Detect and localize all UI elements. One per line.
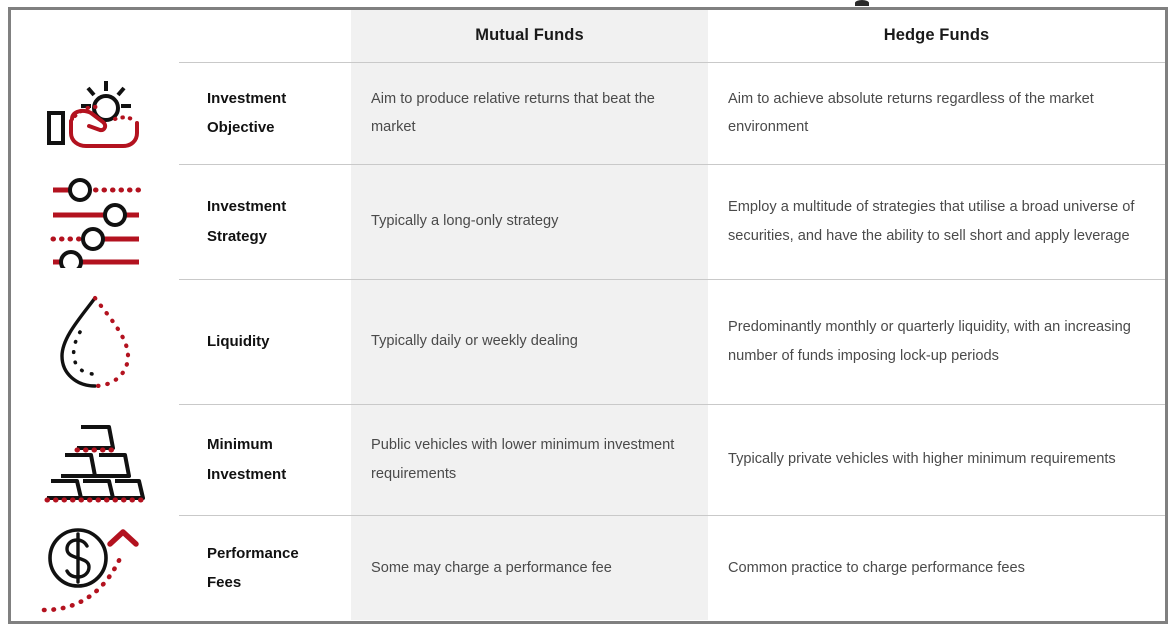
row-label-cell: Performance Fees [179,515,351,620]
row-icon-cell [11,164,179,279]
row-label-cell: Minimum Investment [179,404,351,515]
gold-bars-icon [11,417,179,503]
header-row: Mutual Funds Hedge Funds [11,10,1165,62]
row-icon-cell [11,404,179,515]
clipped-text-artifact [855,0,869,6]
header-hedge-funds: Hedge Funds [708,10,1165,62]
row-label-line2: Objective [207,113,351,142]
table-header: Mutual Funds Hedge Funds [11,10,1165,62]
row-label-line2: Investment [207,460,351,489]
dollar-coin-growth-icon [11,518,179,618]
header-mutual-funds: Mutual Funds [351,10,708,62]
row-icon-cell [11,62,179,164]
cell-mutual-funds: Some may charge a performance fee [351,515,708,620]
row-label-line1: Minimum [207,430,351,459]
row-label-line1: Investment [207,84,351,113]
row-label-line1: Investment [207,192,351,221]
table-row: Minimum Investment Public vehicles with … [11,404,1165,515]
row-icon-cell [11,515,179,620]
comparison-table-page: Mutual Funds Hedge Funds [0,0,1176,628]
hand-holding-sun-icon [11,75,179,151]
mutual-vs-hedge-funds-table: Mutual Funds Hedge Funds [11,10,1165,620]
table-row: Investment Objective Aim to produce rela… [11,62,1165,164]
table-body: Investment Objective Aim to produce rela… [11,62,1165,620]
cell-hedge-funds: Aim to achieve absolute returns regardle… [708,62,1165,164]
table-frame-right [1165,7,1168,624]
row-icon-cell [11,279,179,404]
cell-hedge-funds: Typically private vehicles with higher m… [708,404,1165,515]
cell-hedge-funds: Employ a multitude of strategies that ut… [708,164,1165,279]
row-label-line1: Liquidity [207,327,351,356]
cell-hedge-funds: Common practice to charge performance fe… [708,515,1165,620]
row-label-cell: Liquidity [179,279,351,404]
table-frame-bottom [8,621,1168,624]
row-label-line1: Performance [207,539,351,568]
row-label-cell: Investment Strategy [179,164,351,279]
cell-mutual-funds: Typically daily or weekly dealing [351,279,708,404]
cell-mutual-funds: Aim to produce relative returns that bea… [351,62,708,164]
table-row: Investment Strategy Typically a long-onl… [11,164,1165,279]
table-row: Performance Fees Some may charge a perfo… [11,515,1165,620]
water-droplet-icon [11,290,179,394]
cell-hedge-funds: Predominantly monthly or quarterly liqui… [708,279,1165,404]
header-icon-column [11,10,179,62]
cell-mutual-funds: Public vehicles with lower minimum inves… [351,404,708,515]
row-label-line2: Strategy [207,222,351,251]
row-label-line2: Fees [207,568,351,597]
table-row: Liquidity Typically daily or weekly deal… [11,279,1165,404]
header-label-column [179,10,351,62]
sliders-settings-icon [11,176,179,268]
cell-mutual-funds: Typically a long-only strategy [351,164,708,279]
row-label-cell: Investment Objective [179,62,351,164]
